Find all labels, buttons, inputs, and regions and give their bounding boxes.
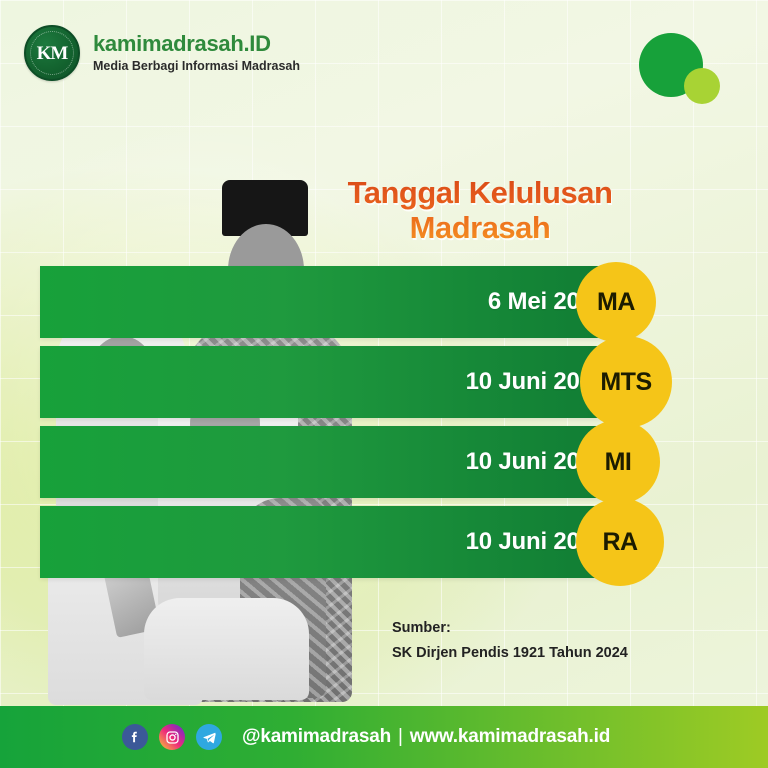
brand-text-block: kamimadrasah.ID Media Berbagi Informasi … xyxy=(93,32,300,73)
footer-website: www.kamimadrasah.id xyxy=(410,726,610,747)
brand-tagline: Media Berbagi Informasi Madrasah xyxy=(93,59,300,74)
footer-separator: | xyxy=(398,726,403,747)
footer-bar: @kamimadrasah|www.kamimadrasah.id xyxy=(0,706,768,768)
footer-contact-text: @kamimadrasah|www.kamimadrasah.id xyxy=(242,726,610,748)
graduation-date-list: 6 Mei 2024 MA 10 Juni 2024 MTS 10 Juni 2… xyxy=(0,266,768,586)
date-bar: 6 Mei 2024 xyxy=(40,266,640,338)
list-item: 10 Juni 2024 MI xyxy=(0,426,768,498)
title-line-2: Madrasah xyxy=(296,211,664,246)
level-badge: MI xyxy=(576,420,660,504)
poster-canvas: KM kamimadrasah.ID Media Berbagi Informa… xyxy=(0,0,768,768)
brand-name: kamimadrasah.ID xyxy=(93,32,300,55)
date-bar: 10 Juni 2024 xyxy=(40,506,640,578)
brand-header: KM kamimadrasah.ID Media Berbagi Informa… xyxy=(24,25,300,81)
source-label: Sumber: xyxy=(392,616,628,641)
level-badge: MA xyxy=(576,262,656,342)
logo-monogram: KM xyxy=(37,44,68,63)
girl-right-robe xyxy=(144,598,309,700)
date-bar: 10 Juni 2024 xyxy=(40,426,640,498)
title-line-1: Tanggal Kelulusan xyxy=(296,176,664,211)
facebook-icon[interactable] xyxy=(122,724,148,750)
list-item: 10 Juni 2024 MTS xyxy=(0,346,768,418)
poster-title: Tanggal Kelulusan Madrasah xyxy=(296,176,664,245)
instagram-icon[interactable] xyxy=(159,724,185,750)
kamimadrasah-logo-icon: KM xyxy=(24,25,80,81)
date-bar: 10 Juni 2024 xyxy=(40,346,640,418)
source-block: Sumber: SK Dirjen Pendis 1921 Tahun 2024 xyxy=(392,616,628,667)
telegram-icon[interactable] xyxy=(196,724,222,750)
level-badge: MTS xyxy=(580,336,672,428)
source-reference: SK Dirjen Pendis 1921 Tahun 2024 xyxy=(392,641,628,666)
level-badge: RA xyxy=(576,498,664,586)
list-item: 6 Mei 2024 MA xyxy=(0,266,768,338)
decorative-circle-small-icon xyxy=(684,68,720,104)
footer-handle: @kamimadrasah xyxy=(242,726,391,747)
list-item: 10 Juni 2024 RA xyxy=(0,506,768,578)
